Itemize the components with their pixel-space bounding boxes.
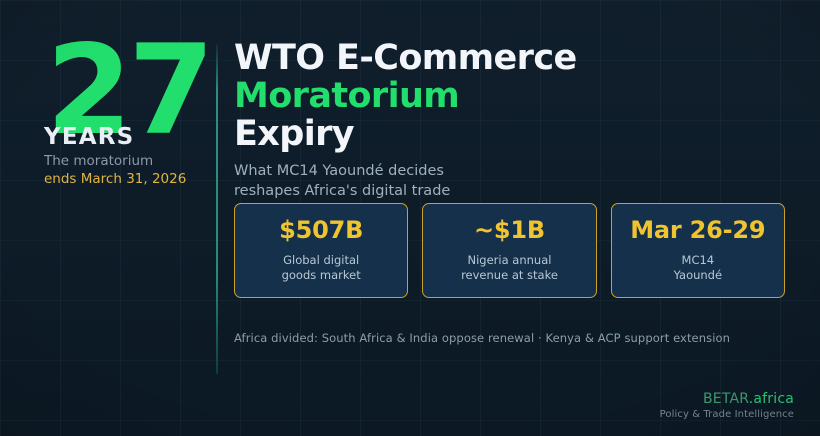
subtitle-line-1: What MC14 Yaoundé decides	[234, 162, 790, 181]
brand-block: BETAR.africa Policy & Trade Intelligence	[660, 391, 794, 420]
footnote-text: Africa divided: South Africa & India opp…	[234, 331, 730, 345]
headline-line-1: WTO E-Commerce	[234, 40, 790, 78]
brand-tagline: Policy & Trade Intelligence	[660, 409, 794, 420]
stat-card-global-market: $507B Global digital goods market	[234, 203, 408, 298]
stat-label-line-2: goods market	[282, 268, 361, 283]
brand-name-main: BETAR	[703, 391, 749, 407]
infographic-canvas: 27 YEARS The moratorium ends March 31, 2…	[0, 0, 820, 436]
stat-card-row: $507B Global digital goods market ~$1B N…	[234, 203, 785, 298]
subtitle-block: What MC14 Yaoundé decides reshapes Afric…	[234, 162, 790, 201]
stat-value: Mar 26-29	[630, 216, 765, 244]
brand-name-tld: .africa	[749, 391, 794, 407]
stat-label-line-1: Global digital	[282, 253, 361, 268]
stat-label: Global digital goods market	[282, 253, 361, 282]
years-unit-label: YEARS	[44, 124, 204, 150]
headline-line-2: Moratorium	[234, 78, 790, 116]
left-stat-column: 27 YEARS The moratorium ends March 31, 2…	[44, 34, 204, 188]
stat-value: ~$1B	[474, 216, 545, 244]
moratorium-end-date: ends March 31, 2026	[44, 171, 204, 188]
stat-value: $507B	[279, 216, 363, 244]
headline-line-3: Expiry	[234, 116, 790, 154]
stat-label-line-1: Nigeria annual	[461, 253, 558, 268]
vertical-accent-divider	[216, 44, 218, 374]
headline-block: WTO E-Commerce Moratorium Expiry What MC…	[234, 40, 790, 201]
stat-label: Nigeria annual revenue at stake	[461, 253, 558, 282]
stat-label: MC14 Yaoundé	[674, 253, 722, 282]
subtitle-line-2: reshapes Africa's digital trade	[234, 182, 790, 201]
stat-card-nigeria-revenue: ~$1B Nigeria annual revenue at stake	[422, 203, 596, 298]
stat-label-line-1: MC14	[674, 253, 722, 268]
stat-label-line-2: revenue at stake	[461, 268, 558, 283]
brand-name: BETAR.africa	[660, 391, 794, 407]
stat-label-line-2: Yaoundé	[674, 268, 722, 283]
stat-card-mc14-dates: Mar 26-29 MC14 Yaoundé	[611, 203, 785, 298]
